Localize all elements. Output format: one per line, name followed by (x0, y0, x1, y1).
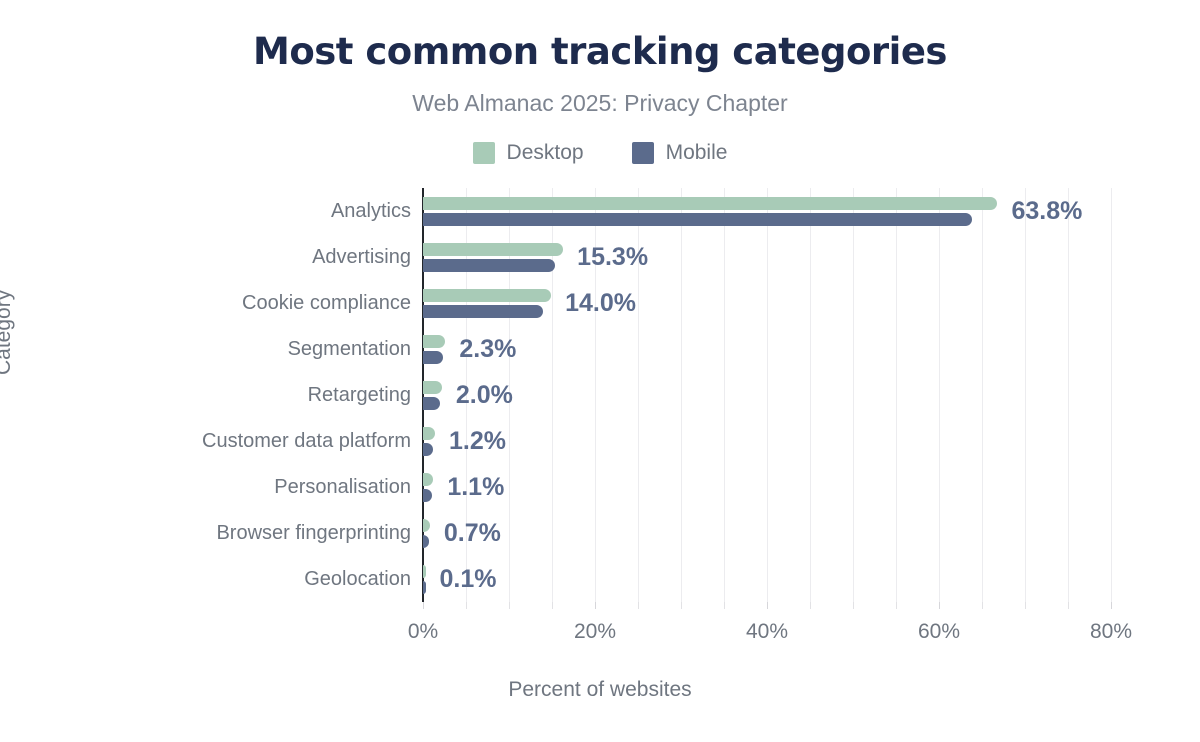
bar-mobile-analytics[interactable] (423, 213, 972, 226)
bar-desktop-retargeting[interactable] (423, 381, 442, 394)
bar-mobile-geolocation[interactable] (423, 581, 426, 594)
bar-desktop-geolocation[interactable] (423, 565, 426, 578)
category-label-customer-data-platform: Customer data platform (0, 431, 411, 451)
gridline (724, 188, 725, 602)
value-label-customer-data-platform: 1.2% (449, 429, 506, 454)
gridline (1068, 188, 1069, 602)
value-label-browser-fingerprinting: 0.7% (444, 521, 501, 546)
bar-desktop-cookie-compliance[interactable] (423, 289, 551, 302)
gridline (681, 188, 682, 602)
category-label-analytics: Analytics (0, 201, 411, 221)
x-tick-label-20: 20% (574, 620, 616, 644)
x-axis-tick (982, 602, 983, 609)
legend-label: Mobile (666, 141, 728, 165)
x-tick-label-60: 60% (918, 620, 960, 644)
x-tick-label-80: 80% (1090, 620, 1132, 644)
legend-item-mobile[interactable]: Mobile (632, 141, 728, 165)
x-axis-tick (595, 602, 596, 609)
value-label-cookie-compliance: 14.0% (565, 291, 636, 316)
bar-desktop-browser-fingerprinting[interactable] (423, 519, 430, 532)
value-label-geolocation: 0.1% (440, 567, 497, 592)
bar-mobile-retargeting[interactable] (423, 397, 440, 410)
gridline (767, 188, 768, 602)
x-axis-tick (509, 602, 510, 609)
chart-subtitle: Web Almanac 2025: Privacy Chapter (0, 90, 1200, 117)
x-axis-tick (853, 602, 854, 609)
gridline (982, 188, 983, 602)
value-label-personalisation: 1.1% (447, 475, 504, 500)
x-axis-tick (896, 602, 897, 609)
category-label-personalisation: Personalisation (0, 477, 411, 497)
bar-mobile-browser-fingerprinting[interactable] (423, 535, 429, 548)
category-label-cookie-compliance: Cookie compliance (0, 293, 411, 313)
value-label-retargeting: 2.0% (456, 383, 513, 408)
chart-legend: DesktopMobile (0, 141, 1200, 165)
x-axis-tick (724, 602, 725, 609)
bar-desktop-personalisation[interactable] (423, 473, 433, 486)
x-axis-tick (767, 602, 768, 609)
x-axis-tick (466, 602, 467, 609)
value-label-analytics: 63.8% (1011, 199, 1082, 224)
x-axis-tick (810, 602, 811, 609)
gridline (853, 188, 854, 602)
gridline (1111, 188, 1112, 602)
chart-figure: Most common tracking categories Web Alma… (0, 0, 1200, 742)
x-axis-tick (1111, 602, 1112, 609)
category-label-segmentation: Segmentation (0, 339, 411, 359)
x-axis-tick (939, 602, 940, 609)
legend-label: Desktop (507, 141, 584, 165)
bar-mobile-customer-data-platform[interactable] (423, 443, 433, 456)
category-label-advertising: Advertising (0, 247, 411, 267)
gridline (1025, 188, 1026, 602)
x-axis-tick (681, 602, 682, 609)
value-label-segmentation: 2.3% (459, 337, 516, 362)
x-tick-label-40: 40% (746, 620, 788, 644)
gridline (896, 188, 897, 602)
gridline (810, 188, 811, 602)
y-axis-title: Category (0, 290, 16, 375)
bar-mobile-personalisation[interactable] (423, 489, 432, 502)
bar-desktop-analytics[interactable] (423, 197, 997, 210)
bar-desktop-customer-data-platform[interactable] (423, 427, 435, 440)
chart-title: Most common tracking categories (0, 30, 1200, 73)
category-label-browser-fingerprinting: Browser fingerprinting (0, 523, 411, 543)
x-axis-tick (423, 602, 424, 609)
bar-desktop-advertising[interactable] (423, 243, 563, 256)
x-axis-tick (1025, 602, 1026, 609)
x-axis-title: Percent of websites (0, 678, 1200, 702)
bar-mobile-advertising[interactable] (423, 259, 555, 272)
plot-area: 63.8%15.3%14.0%2.3%2.0%1.2%1.1%0.7%0.1% (423, 188, 1111, 602)
x-axis-tick (552, 602, 553, 609)
bar-desktop-segmentation[interactable] (423, 335, 445, 348)
bar-mobile-cookie-compliance[interactable] (423, 305, 543, 318)
x-axis-tick (638, 602, 639, 609)
legend-swatch-icon (473, 142, 495, 164)
gridline (939, 188, 940, 602)
bar-mobile-segmentation[interactable] (423, 351, 443, 364)
legend-swatch-icon (632, 142, 654, 164)
x-tick-label-0: 0% (408, 620, 438, 644)
value-label-advertising: 15.3% (577, 245, 648, 270)
x-axis-tick (1068, 602, 1069, 609)
category-label-retargeting: Retargeting (0, 385, 411, 405)
legend-item-desktop[interactable]: Desktop (473, 141, 584, 165)
category-label-geolocation: Geolocation (0, 569, 411, 589)
